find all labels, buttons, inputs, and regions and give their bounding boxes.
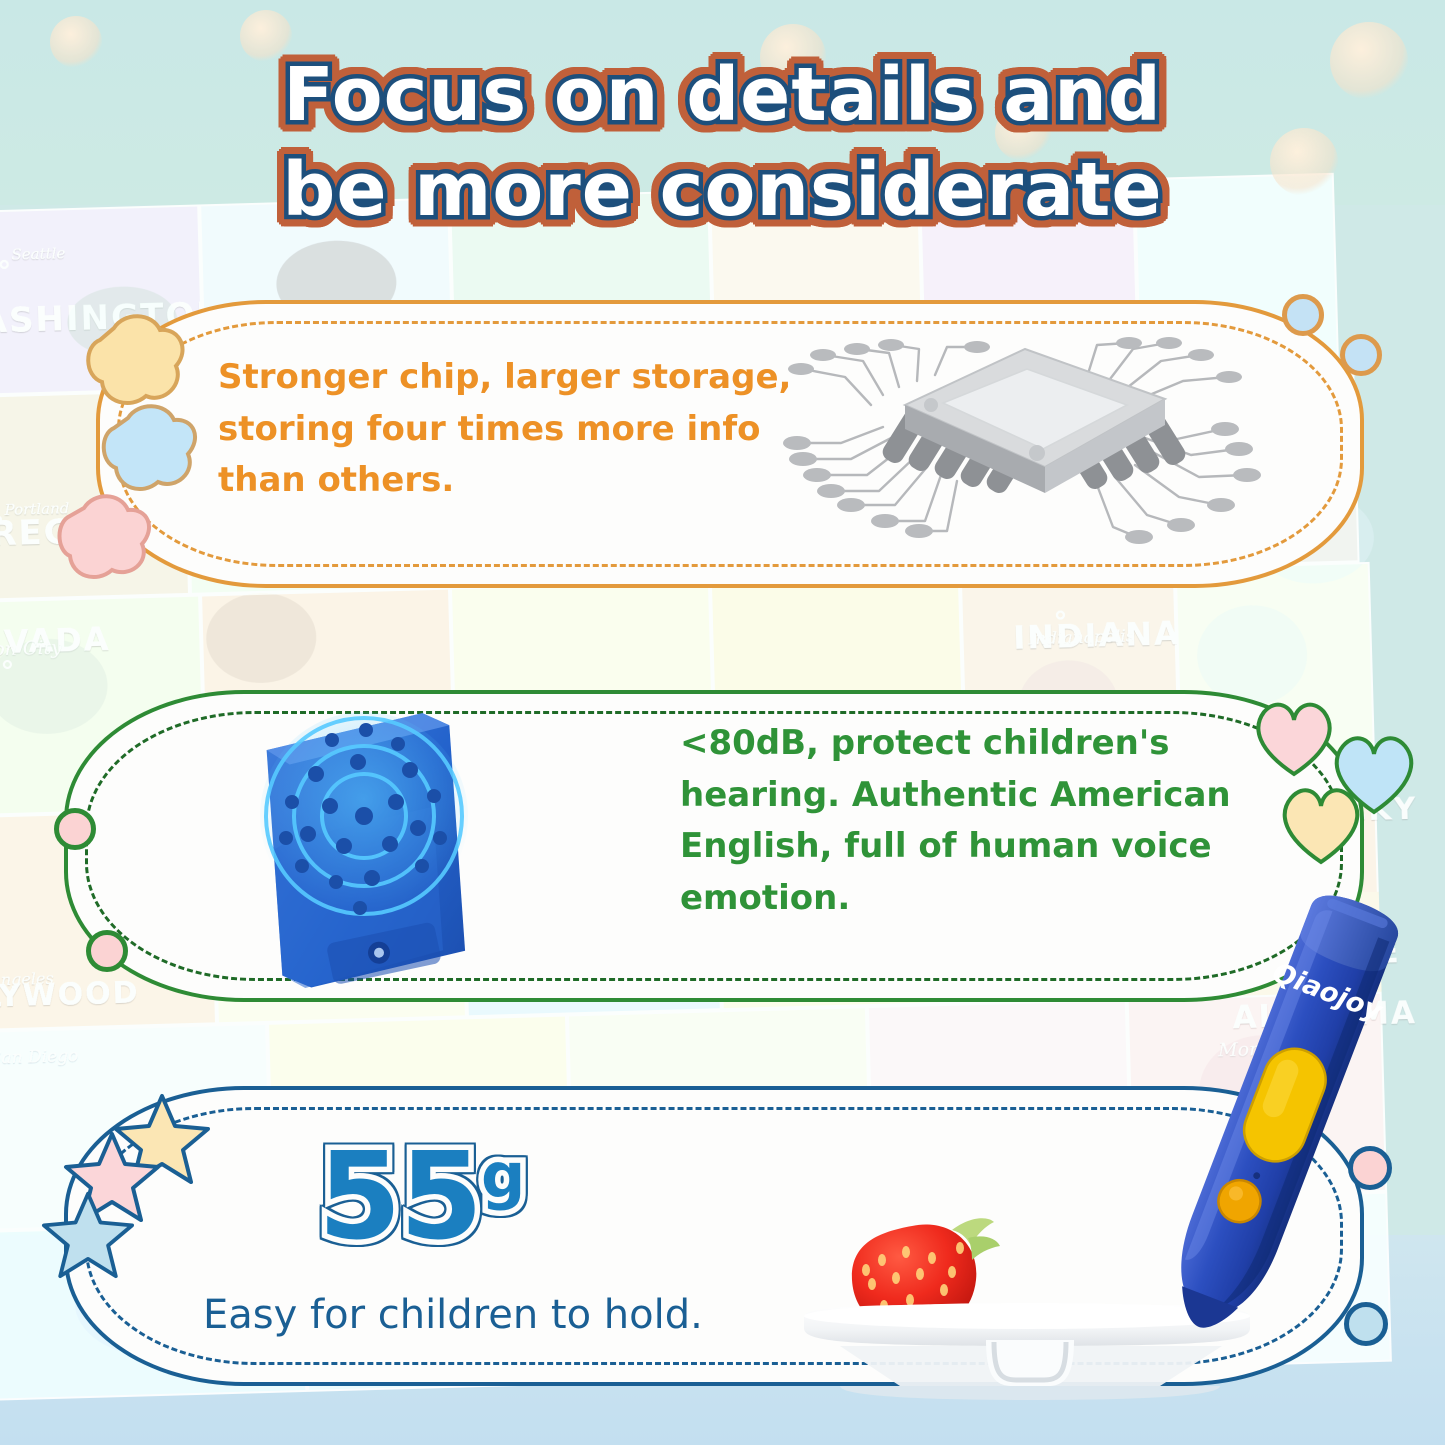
city-label: Indianapolis	[1028, 627, 1134, 650]
blossom-icon	[995, 105, 1051, 161]
circle-pink-icon	[54, 808, 96, 850]
city-label: San Diego	[0, 1046, 79, 1068]
weight-caption: Easy for children to hold.	[203, 1292, 703, 1338]
weight-unit: g	[481, 1139, 523, 1212]
reading-pen-icon: Qiaojoy	[1130, 880, 1430, 1350]
cloud-pink-icon	[52, 490, 160, 588]
city-label: Los Angeles	[0, 969, 54, 991]
circle-blue-icon	[1340, 334, 1382, 376]
speaker-module-icon	[236, 706, 536, 998]
blossom-icon	[240, 10, 292, 62]
weight-number: 55	[318, 1128, 481, 1267]
city-label: Seattle	[11, 244, 65, 263]
blossom-icon	[50, 16, 102, 68]
panel-chip-text: Stronger chip, larger storage, storing f…	[218, 352, 818, 507]
circle-pink-icon	[86, 930, 128, 972]
cloud-blue-icon	[96, 400, 206, 500]
infographic-canvas: WASHINGTON OREGON NEBRASKA IOWA NEVADA	[0, 0, 1445, 1445]
blossom-icon	[1270, 128, 1338, 196]
microchip-icon	[775, 325, 1275, 570]
circle-blue-icon	[1282, 294, 1324, 336]
blossom-icon	[760, 24, 826, 90]
blossom-icon	[1330, 22, 1408, 100]
weight-value: 55g	[318, 1128, 523, 1267]
star-blue-icon	[40, 1188, 136, 1280]
heart-yellow-icon	[1274, 780, 1368, 868]
